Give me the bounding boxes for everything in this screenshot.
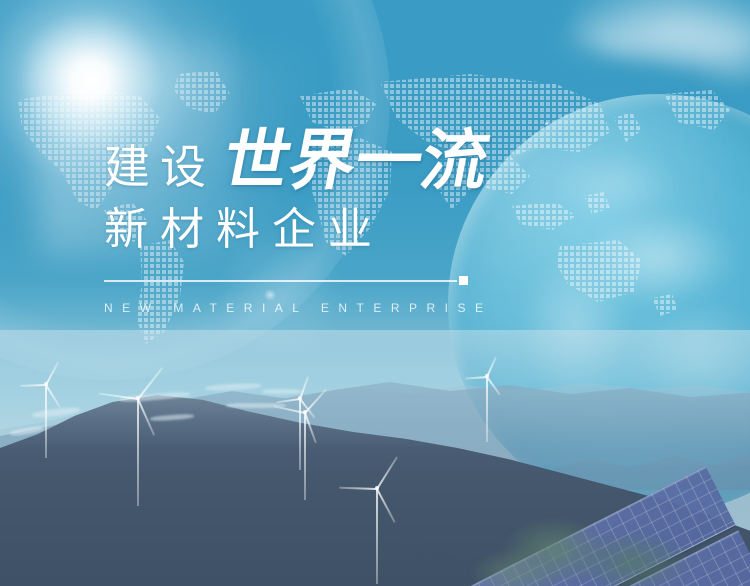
divider — [104, 276, 468, 285]
wind-turbine-icon — [282, 412, 328, 500]
subtitle-text: NEW MATERIAL ENTERPRISE — [104, 301, 664, 315]
divider-line — [104, 280, 457, 282]
headline-line-2: 新材料企业 — [104, 206, 664, 254]
hero-banner: 建设 世界一流 新材料企业 NEW MATERIAL ENTERPRISE — [0, 0, 750, 586]
wind-turbine-icon — [470, 376, 504, 442]
snow-patch — [205, 383, 261, 392]
banner-copy: 建设 世界一流 新材料企业 NEW MATERIAL ENTERPRISE — [104, 128, 664, 315]
wind-turbine-icon — [108, 398, 168, 506]
headline-line-1: 建设 世界一流 — [104, 128, 664, 202]
headline-plain-text: 建设 — [104, 144, 216, 190]
headline-emphasis-text: 世界一流 — [218, 128, 495, 194]
divider-end-cap — [459, 276, 468, 285]
foliage — [572, 530, 692, 586]
snow-patch — [262, 389, 302, 394]
cloud-icon — [552, 14, 672, 66]
wind-turbine-icon — [26, 384, 66, 458]
